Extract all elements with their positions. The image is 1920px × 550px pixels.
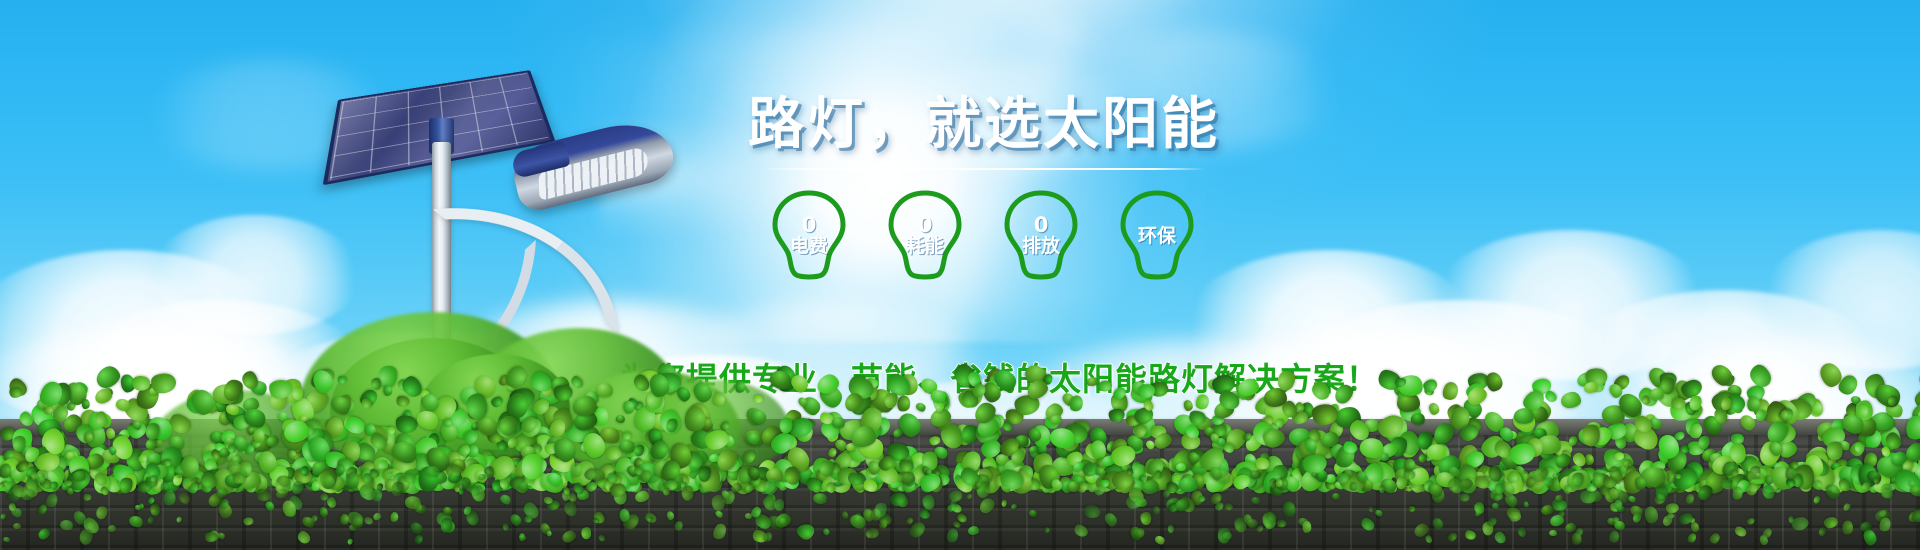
- badge-word: 环保: [1138, 226, 1176, 247]
- wall-coping: [0, 419, 1920, 435]
- solar-street-light-banner: 路灯，就选太阳能 0 电费 0 耗能: [0, 0, 1920, 550]
- feature-badge-list: 0 电费 0 耗能 0 排放: [768, 187, 1198, 283]
- feature-badge-0-emission: 0 排放: [1000, 187, 1082, 283]
- badge-number: 0: [802, 215, 817, 236]
- feature-badge-eco: 环保: [1116, 187, 1198, 283]
- badge-text: 0 电费: [768, 187, 850, 283]
- feature-badge-0-electricity: 0 电费: [768, 187, 850, 283]
- page-title: 路灯，就选太阳能: [748, 96, 1218, 154]
- badge-word: 排放: [1022, 236, 1060, 257]
- feature-badge-0-energy: 0 耗能: [884, 187, 966, 283]
- banner-copy: 路灯，就选太阳能 0 电费 0 耗能: [748, 96, 1218, 283]
- badge-text: 0 耗能: [884, 187, 966, 283]
- banner-tagline: 为您提供专业、节能、省钱的太阳能路灯解决方案！: [620, 354, 1350, 400]
- badge-number: 0: [1034, 215, 1049, 236]
- tiled-wall: [0, 428, 1920, 550]
- badge-word: 电费: [790, 236, 828, 257]
- badge-text: 环保: [1116, 187, 1198, 283]
- badge-word: 耗能: [906, 236, 944, 257]
- badge-number: 0: [918, 215, 933, 236]
- title-divider: [760, 168, 1206, 170]
- badge-text: 0 排放: [1000, 187, 1082, 283]
